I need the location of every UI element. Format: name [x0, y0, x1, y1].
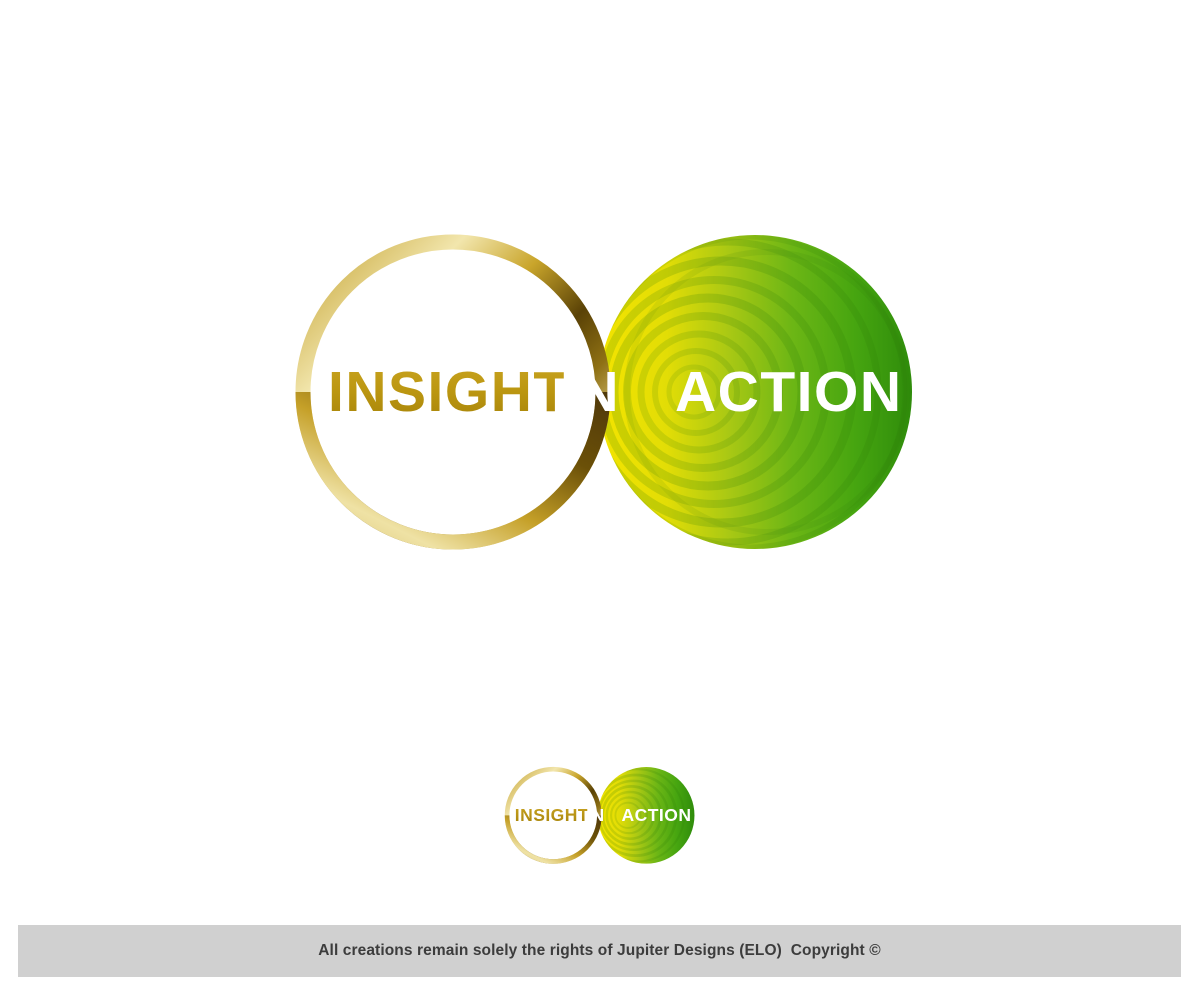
logo-word-in: IN	[560, 360, 620, 424]
logo-small-word-insight: INSIGHT	[515, 805, 589, 825]
logo-main-svg: INSIGHT IN ACTION	[280, 195, 930, 590]
logo-small-word-action: ACTION	[622, 805, 692, 825]
logo-word-insight: INSIGHT	[328, 360, 570, 424]
copyright-footer-bar: All creations remain solely the rights o…	[18, 925, 1181, 977]
logo-main: INSIGHT IN ACTION	[280, 195, 930, 590]
logo-small-svg: INSIGHT IN ACTION	[500, 748, 700, 883]
logo-small-word-in: IN	[586, 805, 604, 825]
page-canvas: INSIGHT IN ACTION	[0, 0, 1200, 1000]
copyright-text: All creations remain solely the rights o…	[318, 942, 880, 960]
logo-small: INSIGHT IN ACTION	[500, 748, 700, 883]
logo-word-action: ACTION	[675, 360, 902, 424]
